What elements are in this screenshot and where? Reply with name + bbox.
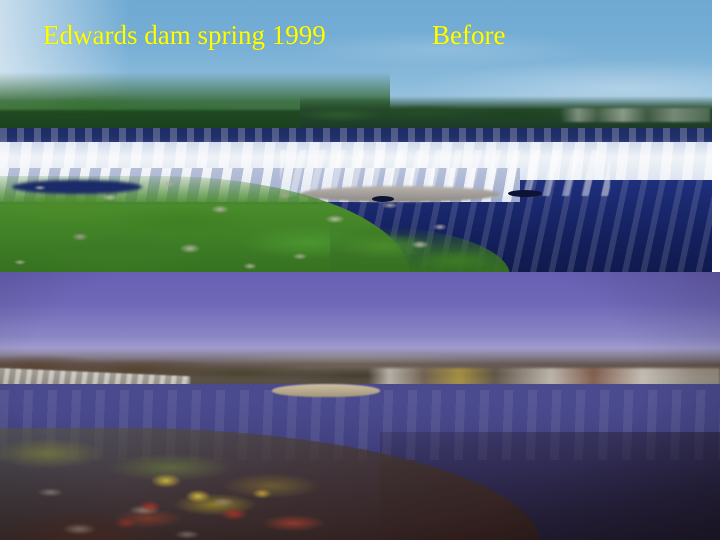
autumn-foliage: [110, 468, 310, 532]
dark-rock-in-water: [508, 190, 542, 197]
photo-after-dam-removal[interactable]: Edwards dam fall 1999 After: [0, 272, 720, 540]
far-shore-buildings: [560, 108, 710, 122]
exposed-sandbar: [272, 384, 380, 397]
slide: Edwards dam spring 1999 Before Edwards d…: [0, 0, 720, 540]
photo-before-dam-removal[interactable]: Edwards dam spring 1999 Before: [0, 0, 712, 272]
caption-before-title: Edwards dam spring 1999: [43, 22, 326, 49]
foreground-stones: [0, 176, 500, 272]
caption-before-label: Before: [432, 22, 505, 49]
